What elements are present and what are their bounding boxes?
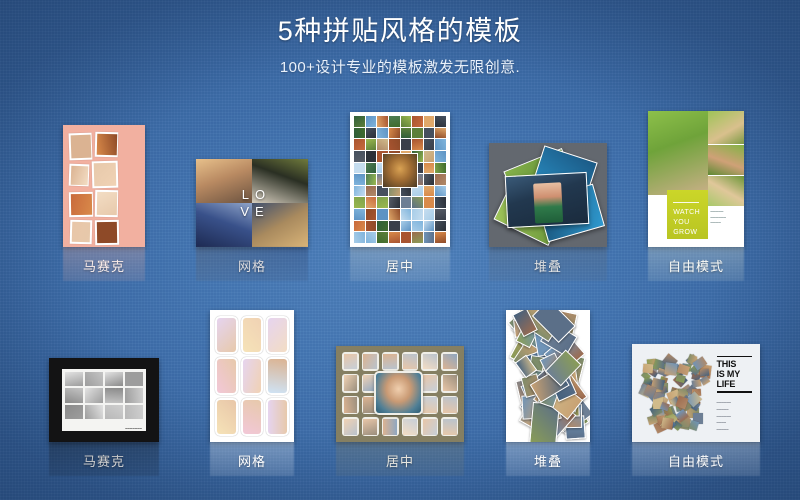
photo-tile [412,209,423,220]
photo-slot [441,417,458,436]
grow-text-block: WATCH YOU GROW [667,190,707,239]
photo-tile [435,151,446,162]
photo-tile [424,174,435,185]
photo-slot [215,316,238,354]
page-title: 5种拼贴风格的模板 [0,16,800,47]
hero-photo [374,371,423,415]
photo-tile [412,128,423,139]
template-card-center-cougar[interactable]: 居中 [326,112,474,275]
thumbnail-wrap: WATCH YOU GROW ▬▬▬▬▬▬▬▬▬▬▬▬▬▬▬ [648,111,744,247]
photo-slot [266,357,289,395]
template-thumbnail[interactable] [336,346,464,442]
template-card-center-khaki[interactable]: 居中 [326,346,474,470]
template-caption: 自由模式 [668,256,724,275]
photo-tile [412,232,423,243]
template-caption: 马赛克 [83,256,125,275]
divider [717,391,753,393]
photo-slot [266,398,289,436]
photo-slot [421,374,438,393]
template-caption: 居中 [386,451,414,470]
photo-tile [424,186,435,197]
photo-tile [662,418,674,430]
template-row-top: 马赛克 L O V E 网格 [0,110,800,275]
template-card-mosaic-pink[interactable]: 马赛克 [30,125,178,275]
photo-tile [125,372,143,386]
photo-tile [85,388,103,402]
photo-slot [441,374,458,393]
photo-tile [401,209,412,220]
template-card-grid9[interactable]: 网格 [178,310,326,470]
photo-tile [389,197,400,208]
photo-tile [412,116,423,127]
photo-tile [354,186,365,197]
photo-tile [401,221,412,232]
photo-tile [366,232,377,243]
photo-tile [125,405,143,419]
photo-tile [435,232,446,243]
frame-caption-line: ▬▬▬▬▬▬▬ [125,428,142,430]
template-row-bottom: ▬▬▬▬▬▬▬ 马赛克 网格 [0,310,800,470]
template-thumbnail[interactable] [63,125,145,247]
photo-slot [241,398,264,436]
overlay-line-2: YOU [673,218,707,228]
template-caption: 马赛克 [83,451,125,470]
photo-tile [105,405,123,419]
photo-tile [424,197,435,208]
photo-tile [401,128,412,139]
photo-tile [354,116,365,127]
divider [717,356,753,358]
photo-tile [435,221,446,232]
mosaic-grid [68,130,140,242]
template-caption: 网格 [238,451,266,470]
photo-tile [366,163,377,174]
photo-tile [354,163,365,174]
photo-slot [241,357,264,395]
thumbnail-wrap [350,112,450,247]
photo-tile [435,174,446,185]
template-caption: 自由模式 [668,451,724,470]
photo-tile [354,232,365,243]
butterfly-collage [636,356,713,432]
photo-tile [412,197,423,208]
overlay-line-1: WATCH [673,208,707,218]
photo-tile [401,139,412,150]
photo-tile [435,209,446,220]
template-thumbnail[interactable] [350,112,450,247]
template-caption: 居中 [386,256,414,275]
photo-tile [424,221,435,232]
photo-tile [354,128,365,139]
template-card-black-frame[interactable]: ▬▬▬▬▬▬▬ 马赛克 [30,358,178,470]
template-thumbnail[interactable]: THIS IS MY LIFE ▬▬▬▬▬▬▬▬▬▬▬▬▬▬▬▬▬▬▬▬▬▬▬▬… [632,344,760,442]
photo-tile [389,139,400,150]
stack-top-photo [504,172,589,228]
photo-tile [389,128,400,139]
photo-tile [85,405,103,419]
hero-photo [382,153,418,188]
overlay-line-3: GROW [673,228,707,238]
photo-slot [362,352,379,371]
photo-slot [342,352,359,371]
photo-tile [65,388,83,402]
photo-tile [424,151,435,162]
template-caption: 堆叠 [534,451,562,470]
photo-tile [377,221,388,232]
template-card-butterfly[interactable]: THIS IS MY LIFE ▬▬▬▬▬▬▬▬▬▬▬▬▬▬▬▬▬▬▬▬▬▬▬▬… [622,344,770,470]
photo-tile [377,232,388,243]
photo-tile [354,174,365,185]
photo-tile [424,232,435,243]
photo-tile [435,139,446,150]
photo-tile [642,364,653,374]
photo-tile [412,139,423,150]
photo-tile [366,151,377,162]
photo-tile [377,209,388,220]
template-thumbnail[interactable]: L O V E [196,159,308,247]
photo-tile [366,221,377,232]
template-thumbnail[interactable]: WATCH YOU GROW ▬▬▬▬▬▬▬▬▬▬▬▬▬▬▬ [648,111,744,247]
photo-tile [435,197,446,208]
photo-slot [95,190,118,217]
overlay-line-2: IS MY [717,369,753,379]
photo-slot [342,396,359,415]
photo-tile [389,221,400,232]
photo-tile [412,221,423,232]
photo-slot [382,352,399,371]
photo-tile [366,209,377,220]
photo-slot [94,219,118,244]
filler-text: ▬▬▬▬▬▬▬▬▬▬▬▬▬▬▬ [710,209,742,226]
photo-slot [362,417,379,436]
photo-tile [389,232,400,243]
photo-tile [125,388,143,402]
template-card-scatter[interactable]: 堆叠 [474,310,622,470]
thumbnail-wrap [506,310,590,442]
photo-tile [389,209,400,220]
photo-slot [69,191,94,216]
photo-tile [366,197,377,208]
photo-slot [342,374,359,393]
thumbnail-wrap: THIS IS MY LIFE ▬▬▬▬▬▬▬▬▬▬▬▬▬▬▬▬▬▬▬▬▬▬▬▬… [632,344,760,442]
thumbnail-wrap: ▬▬▬▬▬▬▬ [49,358,159,442]
template-thumbnail[interactable] [210,310,294,442]
photo-tile [424,116,435,127]
photo-tile [366,174,377,185]
photo-tile [424,163,435,174]
photo-tile [435,128,446,139]
template-card-grid-love[interactable]: L O V E 网格 [178,159,326,275]
photo-tile [424,139,435,150]
photo-tile [366,116,377,127]
photo-tile [105,372,123,386]
overlay-line-3: LIFE [717,379,753,389]
photo-tile [401,116,412,127]
photo-slot [95,132,119,157]
photo-tile [435,163,446,174]
photo-slot [266,316,289,354]
overlay-line-1: THIS [717,359,753,369]
photo-tile [377,128,388,139]
photo-tile [377,197,388,208]
photo-slot [92,161,119,189]
photo-slot [215,398,238,436]
photo-tile [354,209,365,220]
photo-slot [402,352,419,371]
photo-tile [424,209,435,220]
photo-grid-3x3 [215,316,289,436]
photo-tile [366,128,377,139]
photo-slot [441,396,458,415]
frame-mat: ▬▬▬▬▬▬▬ [62,369,146,431]
template-card-free-grow[interactable]: WATCH YOU GROW ▬▬▬▬▬▬▬▬▬▬▬▬▬▬▬ 自由模式 [622,111,770,275]
photo-slot [441,352,458,371]
photo-tile [354,151,365,162]
photo-tile [65,372,83,386]
photo-tile [401,197,412,208]
photo-slot [241,316,264,354]
header: 5种拼贴风格的模板 100+设计专业的模板激发无限创意. [0,0,800,77]
photo-slot [421,396,438,415]
photo-tile [105,388,123,402]
photo-slot [69,133,93,161]
photo-tile [354,139,365,150]
photo-tile [665,363,678,377]
photo-tile [366,139,377,150]
photo-tile [85,372,103,386]
bw-photo-grid [65,372,143,419]
photo-tile [435,116,446,127]
photo-slot [342,417,359,436]
photo-tile [689,420,700,431]
photo-tile [435,186,446,197]
page-subtitle: 100+设计专业的模板激发无限创意. [0,56,800,77]
promo-page: 5种拼贴风格的模板 100+设计专业的模板激发无限创意. 马赛克 [0,0,800,500]
photo-tile [389,116,400,127]
template-thumbnail[interactable]: ▬▬▬▬▬▬▬ [49,358,159,442]
template-thumbnail[interactable] [489,143,607,247]
photo-tile [354,221,365,232]
photo-tile [377,139,388,150]
life-text-block: THIS IS MY LIFE ▬▬▬▬▬▬▬▬▬▬▬▬▬▬▬▬▬▬▬▬▬▬▬▬… [717,356,753,434]
template-thumbnail[interactable] [506,310,590,442]
photo-tile [401,232,412,243]
thumbnail-wrap: L O V E [196,159,308,247]
photo-slot [402,417,419,436]
template-caption: 网格 [238,256,266,275]
photo-slot [421,417,438,436]
photo-slot [421,352,438,371]
filler-text: ▬▬▬▬▬▬▬▬▬▬▬▬▬▬▬▬▬▬▬▬▬▬▬▬▬▬ [717,400,753,433]
photo-tile [366,186,377,197]
thumbnail-wrap [336,346,464,442]
photo-tile [424,128,435,139]
template-caption: 堆叠 [534,256,562,275]
photo-tile [377,116,388,127]
photo-slot [382,417,399,436]
thumbnail-wrap [210,310,294,442]
thumbnail-wrap [489,143,607,247]
template-card-stack-gray[interactable]: 堆叠 [474,143,622,275]
thumbnail-wrap [63,125,145,247]
photo-slot [70,219,92,243]
photo-tile [65,405,83,419]
photo-slot [69,163,90,186]
photo-tile [354,197,365,208]
photo-tile [691,380,701,388]
photo-slot [215,357,238,395]
